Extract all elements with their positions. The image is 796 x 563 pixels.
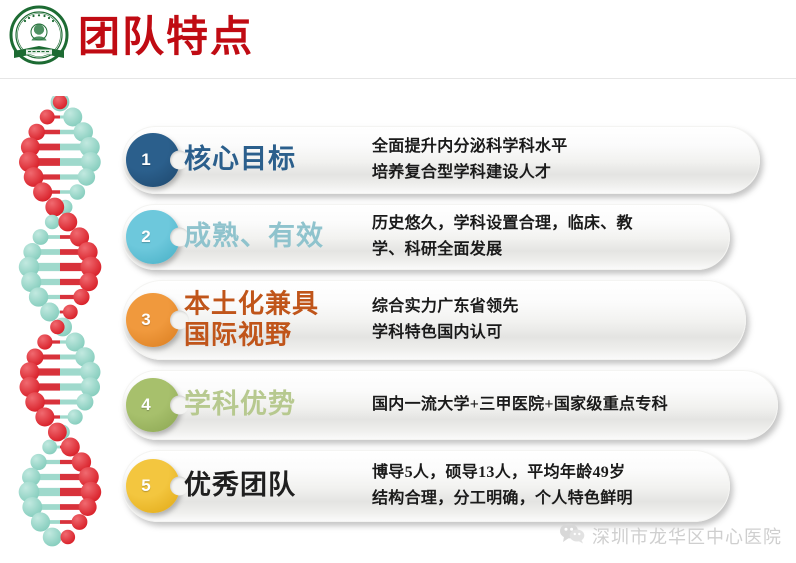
feature-number: 1	[126, 150, 166, 170]
feature-number: 3	[126, 310, 166, 330]
feature-title: 本土化兼具 国际视野	[184, 289, 334, 350]
feature-title: 成熟、有效	[184, 221, 334, 253]
feature-number-badge: 1	[126, 133, 180, 187]
feature-number-badge: 5	[126, 459, 180, 513]
feature-number: 2	[126, 227, 166, 247]
feature-description: 全面提升内分泌科学科水平 培养复合型学科建设人才	[372, 134, 568, 186]
feature-row[interactable]: 5优秀团队博导5人，硕导13人，平均年龄49岁 结构合理，分工明确，个人特色鲜明	[122, 450, 786, 522]
feature-description: 博导5人，硕导13人，平均年龄49岁 结构合理，分工明确，个人特色鲜明	[372, 460, 633, 512]
feature-title: 核心目标	[184, 144, 334, 176]
dna-double-helix-illustration	[8, 96, 112, 548]
feature-row[interactable]: 1核心目标全面提升内分泌科学科水平 培养复合型学科建设人才	[122, 126, 786, 194]
feature-list: 1核心目标全面提升内分泌科学科水平 培养复合型学科建设人才2成熟、有效历史悠久，…	[122, 126, 786, 532]
feature-description: 综合实力广东省领先 学科特色国内认可	[372, 294, 519, 346]
page-title: 团队特点	[78, 6, 254, 68]
watermark: 深圳市龙华区中心医院	[559, 522, 782, 549]
wechat-icon	[559, 522, 585, 549]
feature-description: 国内一流大学+三甲医院+国家级重点专科	[372, 392, 668, 418]
university-seal-logo: 1866	[8, 4, 70, 72]
feature-row[interactable]: 3本土化兼具 国际视野综合实力广东省领先 学科特色国内认可	[122, 280, 786, 360]
feature-title: 优秀团队	[184, 470, 334, 502]
watermark-text: 深圳市龙华区中心医院	[592, 523, 782, 549]
svg-text:1866: 1866	[35, 60, 45, 65]
feature-number-badge: 3	[126, 293, 180, 347]
feature-number-badge: 2	[126, 210, 180, 264]
feature-number: 5	[126, 476, 166, 496]
feature-number: 4	[126, 395, 166, 415]
feature-description: 历史悠久，学科设置合理，临床、教 学、科研全面发展	[372, 211, 633, 263]
feature-title: 学科优势	[184, 389, 334, 421]
feature-row[interactable]: 4学科优势国内一流大学+三甲医院+国家级重点专科	[122, 370, 786, 440]
feature-row[interactable]: 2成熟、有效历史悠久，学科设置合理，临床、教 学、科研全面发展	[122, 204, 786, 270]
page-header: 1866 团队特点	[0, 0, 796, 80]
feature-number-badge: 4	[126, 378, 180, 432]
header-divider	[0, 78, 796, 79]
